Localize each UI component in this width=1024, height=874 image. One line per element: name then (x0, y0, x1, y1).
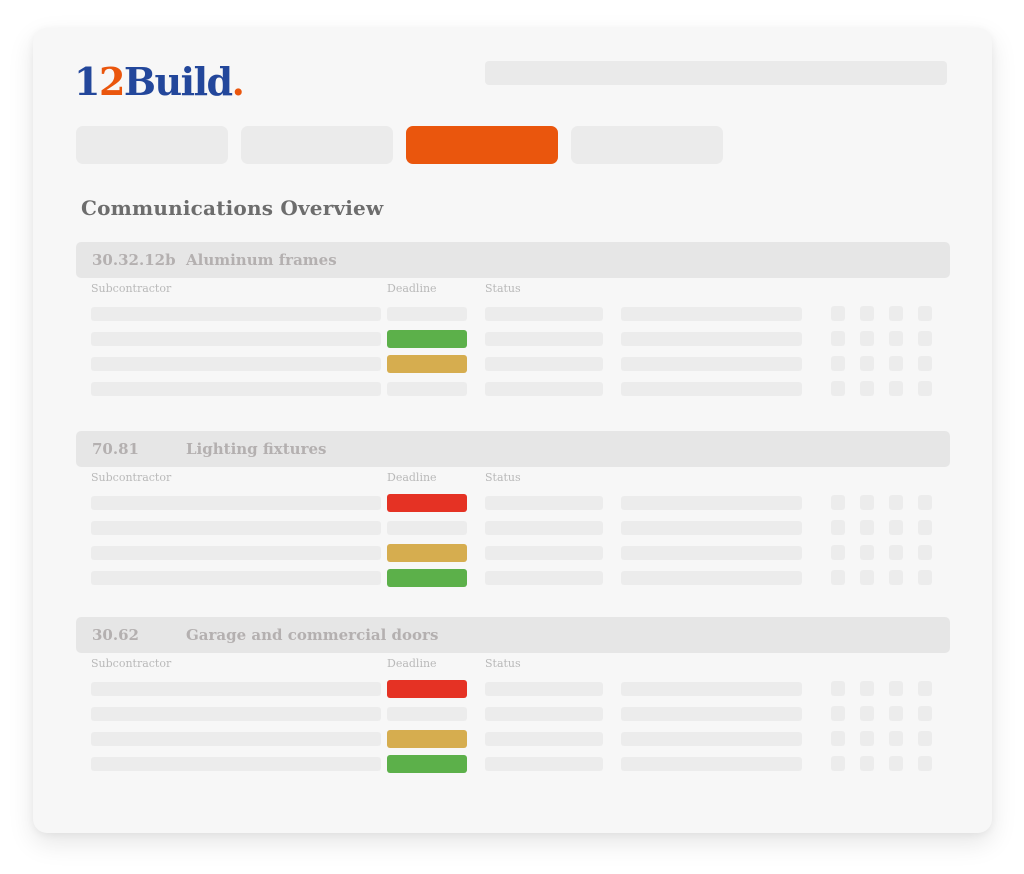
cell-subcontractor (91, 357, 381, 371)
row-action-icon-2[interactable] (860, 520, 874, 535)
primary-nav (76, 126, 956, 164)
cell-deadline (387, 569, 467, 587)
cell-extra (621, 496, 802, 510)
row-actions (831, 306, 941, 322)
cell-status (485, 307, 603, 321)
table-row[interactable] (76, 702, 950, 727)
column-header-subcontractor: Subcontractor (91, 657, 171, 670)
cell-deadline (387, 330, 467, 348)
cell-deadline (387, 494, 467, 512)
communications-card: 12Build. Communications Overview 30.32.1… (33, 28, 992, 833)
row-action-icon-4[interactable] (918, 545, 932, 560)
row-action-icon-2[interactable] (860, 356, 874, 371)
row-action-icon-1[interactable] (831, 495, 845, 510)
row-action-icon-4[interactable] (918, 706, 932, 721)
table-row[interactable] (76, 727, 950, 752)
row-action-icon-2[interactable] (860, 306, 874, 321)
row-action-icon-4[interactable] (918, 495, 932, 510)
row-action-icon-4[interactable] (918, 381, 932, 396)
logo-digit-one: 1 (74, 59, 99, 104)
cell-deadline (387, 680, 467, 698)
cell-subcontractor (91, 307, 381, 321)
table-column-headers: Subcontractor Deadline Status (76, 282, 950, 302)
row-action-icon-2[interactable] (860, 331, 874, 346)
cell-extra (621, 732, 802, 746)
nav-item-3-active[interactable] (406, 126, 558, 164)
column-header-deadline: Deadline (387, 282, 437, 295)
row-actions (831, 331, 941, 347)
cell-extra (621, 682, 802, 696)
search-input[interactable] (485, 61, 947, 85)
cell-status (485, 707, 603, 721)
cell-subcontractor (91, 546, 381, 560)
row-action-icon-2[interactable] (860, 756, 874, 771)
row-action-icon-3[interactable] (889, 520, 903, 535)
row-action-icon-4[interactable] (918, 570, 932, 585)
cell-status (485, 332, 603, 346)
cell-deadline (387, 755, 467, 773)
cell-subcontractor (91, 332, 381, 346)
cell-subcontractor (91, 757, 381, 771)
row-action-icon-3[interactable] (889, 331, 903, 346)
cell-extra (621, 546, 802, 560)
cell-subcontractor (91, 707, 381, 721)
row-action-icon-3[interactable] (889, 681, 903, 696)
section-group: 30.62 Garage and commercial doors Subcon… (76, 617, 950, 777)
cell-status (485, 732, 603, 746)
column-header-status: Status (485, 657, 521, 670)
cell-extra (621, 757, 802, 771)
row-action-icon-1[interactable] (831, 731, 845, 746)
cell-subcontractor (91, 571, 381, 585)
row-actions (831, 706, 941, 722)
table-row[interactable] (76, 377, 950, 402)
cell-deadline (387, 707, 467, 721)
cell-status (485, 521, 603, 535)
table-row[interactable] (76, 752, 950, 777)
cell-subcontractor (91, 682, 381, 696)
row-action-icon-3[interactable] (889, 381, 903, 396)
app-canvas: 12Build. Communications Overview 30.32.1… (0, 0, 1024, 874)
table-column-headers: Subcontractor Deadline Status (76, 471, 950, 491)
row-action-icon-4[interactable] (918, 331, 932, 346)
row-action-icon-4[interactable] (918, 681, 932, 696)
cell-status (485, 357, 603, 371)
cell-deadline (387, 730, 467, 748)
nav-item-1[interactable] (76, 126, 228, 164)
section-header[interactable]: 30.32.12b Aluminum frames (76, 242, 950, 278)
row-actions (831, 731, 941, 747)
row-actions (831, 681, 941, 697)
row-action-icon-4[interactable] (918, 520, 932, 535)
row-action-icon-3[interactable] (889, 706, 903, 721)
brand-logo-12build[interactable]: 12Build. (74, 63, 243, 101)
page-title: Communications Overview (81, 196, 383, 220)
cell-extra (621, 382, 802, 396)
section-name: Lighting fixtures (176, 440, 326, 458)
row-actions (831, 520, 941, 536)
row-actions (831, 756, 941, 772)
row-action-icon-4[interactable] (918, 731, 932, 746)
row-action-icon-1[interactable] (831, 706, 845, 721)
row-action-icon-2[interactable] (860, 570, 874, 585)
row-action-icon-2[interactable] (860, 495, 874, 510)
row-action-icon-1[interactable] (831, 306, 845, 321)
row-action-icon-3[interactable] (889, 495, 903, 510)
communications-table: Subcontractor Deadline Status (76, 471, 950, 591)
cell-status (485, 682, 603, 696)
section-code: 30.32.12b (76, 251, 176, 269)
table-row[interactable] (76, 516, 950, 541)
communications-table: Subcontractor Deadline Status (76, 282, 950, 402)
row-action-icon-3[interactable] (889, 545, 903, 560)
row-action-icon-3[interactable] (889, 731, 903, 746)
table-row[interactable] (76, 327, 950, 352)
cell-subcontractor (91, 732, 381, 746)
row-action-icon-1[interactable] (831, 331, 845, 346)
cell-extra (621, 571, 802, 585)
table-row[interactable] (76, 352, 950, 377)
column-header-subcontractor: Subcontractor (91, 282, 171, 295)
row-action-icon-4[interactable] (918, 306, 932, 321)
section-name: Aluminum frames (176, 251, 337, 269)
row-action-icon-2[interactable] (860, 381, 874, 396)
column-header-status: Status (485, 471, 521, 484)
logo-dot: . (232, 59, 244, 104)
row-action-icon-3[interactable] (889, 756, 903, 771)
nav-item-4[interactable] (571, 126, 723, 164)
section-header[interactable]: 30.62 Garage and commercial doors (76, 617, 950, 653)
column-header-deadline: Deadline (387, 657, 437, 670)
row-actions (831, 495, 941, 511)
cell-deadline (387, 382, 467, 396)
row-action-icon-3[interactable] (889, 570, 903, 585)
section-name: Garage and commercial doors (176, 626, 438, 644)
cell-subcontractor (91, 382, 381, 396)
row-action-icon-4[interactable] (918, 356, 932, 371)
nav-item-2[interactable] (241, 126, 393, 164)
cell-deadline (387, 307, 467, 321)
column-header-status: Status (485, 282, 521, 295)
cell-status (485, 571, 603, 585)
cell-status (485, 757, 603, 771)
row-action-icon-1[interactable] (831, 681, 845, 696)
row-action-icon-1[interactable] (831, 520, 845, 535)
row-action-icon-4[interactable] (918, 756, 932, 771)
cell-extra (621, 307, 802, 321)
communications-table: Subcontractor Deadline Status (76, 657, 950, 777)
section-group: 30.32.12b Aluminum frames Subcontractor … (76, 242, 950, 402)
column-header-subcontractor: Subcontractor (91, 471, 171, 484)
cell-status (485, 382, 603, 396)
cell-subcontractor (91, 521, 381, 535)
cell-subcontractor (91, 496, 381, 510)
row-action-icon-2[interactable] (860, 731, 874, 746)
row-action-icon-2[interactable] (860, 545, 874, 560)
row-action-icon-2[interactable] (860, 706, 874, 721)
row-actions (831, 356, 941, 372)
row-actions (831, 381, 941, 397)
row-actions (831, 570, 941, 586)
section-code: 30.62 (76, 626, 176, 644)
row-actions (831, 545, 941, 561)
cell-extra (621, 357, 802, 371)
table-row[interactable] (76, 541, 950, 566)
cell-extra (621, 707, 802, 721)
row-action-icon-2[interactable] (860, 681, 874, 696)
row-action-icon-1[interactable] (831, 570, 845, 585)
section-code: 70.81 (76, 440, 176, 458)
section-header[interactable]: 70.81 Lighting fixtures (76, 431, 950, 467)
row-action-icon-3[interactable] (889, 306, 903, 321)
row-action-icon-1[interactable] (831, 356, 845, 371)
logo-word-build: Build (124, 59, 232, 104)
row-action-icon-1[interactable] (831, 545, 845, 560)
logo-digit-two: 2 (99, 59, 124, 104)
row-action-icon-1[interactable] (831, 756, 845, 771)
cell-deadline (387, 521, 467, 535)
card-header: 12Build. (33, 28, 992, 114)
cell-extra (621, 332, 802, 346)
table-row[interactable] (76, 677, 950, 702)
cell-deadline (387, 355, 467, 373)
table-row[interactable] (76, 302, 950, 327)
column-header-deadline: Deadline (387, 471, 437, 484)
cell-status (485, 546, 603, 560)
table-row[interactable] (76, 491, 950, 516)
row-action-icon-1[interactable] (831, 381, 845, 396)
table-row[interactable] (76, 566, 950, 591)
table-column-headers: Subcontractor Deadline Status (76, 657, 950, 677)
section-group: 70.81 Lighting fixtures Subcontractor De… (76, 431, 950, 591)
cell-status (485, 496, 603, 510)
cell-extra (621, 521, 802, 535)
cell-deadline (387, 544, 467, 562)
row-action-icon-3[interactable] (889, 356, 903, 371)
